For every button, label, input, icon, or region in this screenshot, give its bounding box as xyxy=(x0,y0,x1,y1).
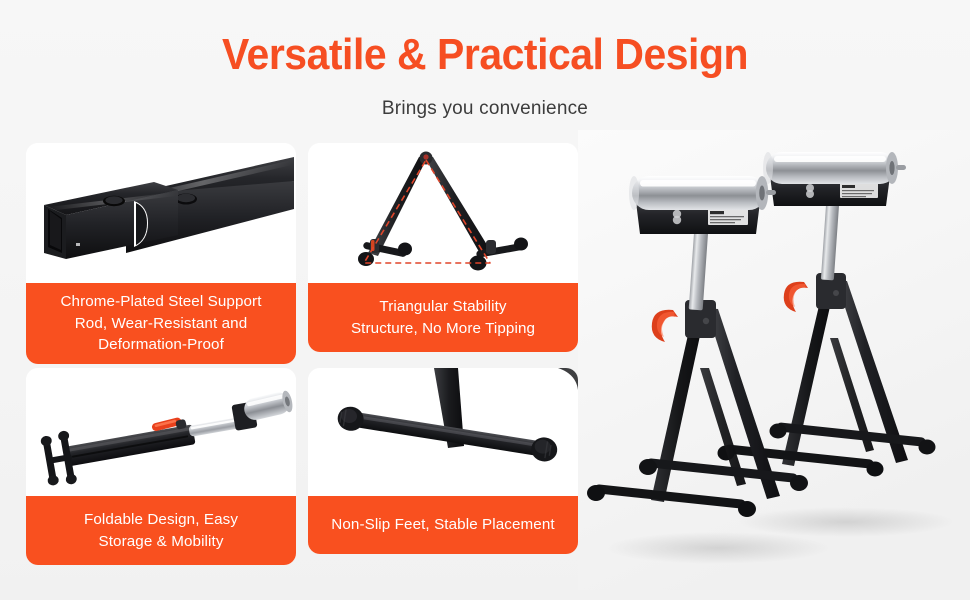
caption-line: Storage & Mobility xyxy=(84,531,238,553)
caption-line: Triangular Stability xyxy=(351,296,535,318)
feature-image-foldable-design xyxy=(26,368,296,496)
triangle-stability-illustration xyxy=(308,143,578,283)
non-slip-feet-illustration xyxy=(308,368,578,496)
caption-line: Structure, No More Tipping xyxy=(351,318,535,340)
feature-image-support-rod xyxy=(26,143,296,283)
caption-line: Non-Slip Feet, Stable Placement xyxy=(331,514,554,536)
feature-caption-triangular-stability: Triangular Stability Structure, No More … xyxy=(308,283,578,352)
feature-caption-foldable-design: Foldable Design, Easy Storage & Mobility xyxy=(26,496,296,565)
caption-line: Foldable Design, Easy xyxy=(84,509,238,531)
page-title: Versatile & Practical Design xyxy=(34,0,936,81)
caption-line: Deformation-Proof xyxy=(60,334,261,356)
feature-caption-non-slip-feet: Non-Slip Feet, Stable Placement xyxy=(308,496,578,554)
feature-card-non-slip-feet[interactable]: Non-Slip Feet, Stable Placement xyxy=(308,368,578,554)
feature-card-triangular-stability[interactable]: Triangular Stability Structure, No More … xyxy=(308,143,578,352)
feature-image-triangular-stability xyxy=(308,143,578,283)
support-rod-illustration xyxy=(26,143,296,283)
feature-grid: Chrome-Plated Steel Support Rod, Wear-Re… xyxy=(26,143,578,563)
caption-line: Chrome-Plated Steel Support xyxy=(60,291,261,313)
marketing-banner: Versatile & Practical Design Brings you … xyxy=(0,0,970,600)
hero-product-image xyxy=(578,130,970,590)
header: Versatile & Practical Design Brings you … xyxy=(0,0,970,120)
feature-image-non-slip-feet xyxy=(308,368,578,496)
feature-card-foldable-design[interactable]: Foldable Design, Easy Storage & Mobility xyxy=(26,368,296,565)
caption-line: Rod, Wear-Resistant and xyxy=(60,313,261,335)
feature-card-support-rod[interactable]: Chrome-Plated Steel Support Rod, Wear-Re… xyxy=(26,143,296,364)
feature-caption-support-rod: Chrome-Plated Steel Support Rod, Wear-Re… xyxy=(26,283,296,364)
page-subtitle: Brings you convenience xyxy=(0,81,970,120)
foldable-stand-illustration xyxy=(26,368,296,496)
